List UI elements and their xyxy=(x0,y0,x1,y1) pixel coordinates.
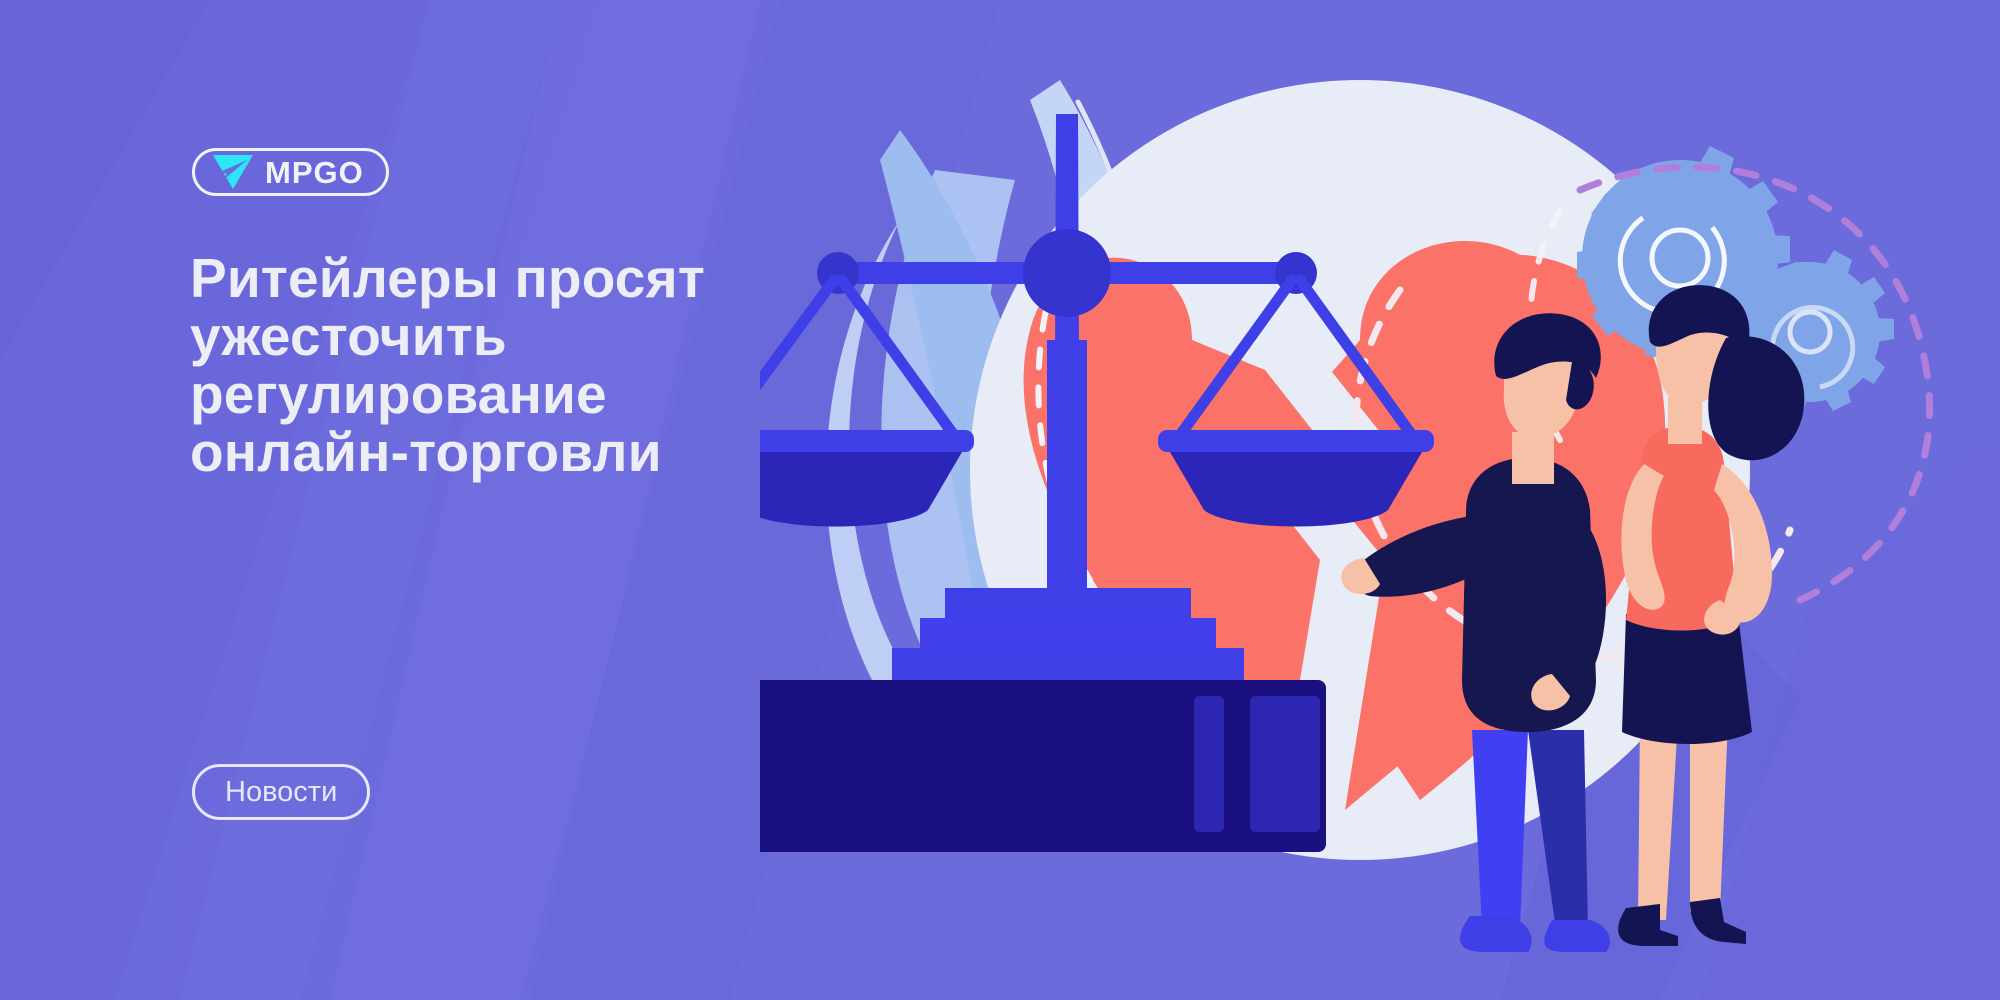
category-badge-news[interactable]: Новости xyxy=(192,764,370,820)
pedestal-base xyxy=(760,680,1326,852)
brand-logo-badge[interactable]: MPGO xyxy=(192,148,389,196)
category-badge-label: Новости xyxy=(225,778,337,807)
play-arrow-icon xyxy=(211,152,255,192)
brand-logo-text: MPGO xyxy=(265,157,364,188)
illustration-justice-scales xyxy=(760,40,2000,1000)
news-card-canvas: MPGO Ритейлеры просят ужесточить регулир… xyxy=(0,0,2000,1000)
